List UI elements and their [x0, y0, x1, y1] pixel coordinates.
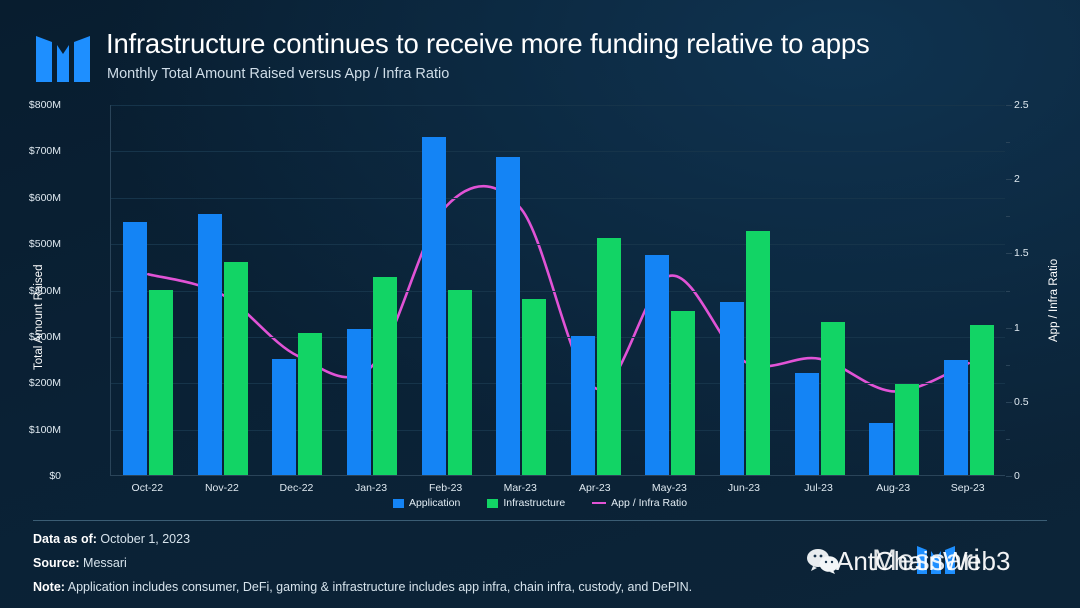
gridline [111, 244, 1005, 245]
bar-infrastructure[interactable] [373, 277, 397, 475]
x-axis-tick-label: Apr-23 [579, 482, 611, 494]
y2-axis-tick-label: 0.5 [1014, 396, 1054, 408]
legend-swatch-ratio [592, 502, 606, 505]
y2-axis-tick-label: 2 [1014, 173, 1054, 185]
legend-label-infrastructure: Infrastructure [503, 497, 565, 509]
wechat-icon [806, 548, 840, 574]
chart-header: Infrastructure continues to receive more… [0, 0, 1080, 96]
bar-infrastructure[interactable] [597, 238, 621, 475]
y2-axis-minor-tick [1006, 328, 1010, 329]
bar-infrastructure[interactable] [671, 311, 695, 475]
footer-note-value: Application includes consumer, DeFi, gam… [68, 580, 692, 594]
y2-axis-minor-tick [1006, 439, 1010, 440]
y-axis-tick-label: $700M [0, 145, 61, 157]
y2-axis-minor-tick [1006, 216, 1010, 217]
y2-axis-tick-label: 2.5 [1014, 99, 1054, 111]
bar-application[interactable] [422, 137, 446, 475]
y-axis-tick-label: $300M [0, 331, 61, 343]
legend-label-application: Application [409, 497, 460, 509]
watermark-overlay: Messari AntChainWeb3 [812, 538, 1074, 584]
x-axis-tick-label: Sep-23 [951, 482, 985, 494]
chart-container: Total Amount Raised App / Infra Ratio Ap… [0, 96, 1080, 516]
bar-application[interactable] [571, 336, 595, 475]
y2-axis-tick-label: 1.5 [1014, 247, 1054, 259]
bar-application[interactable] [272, 359, 296, 475]
gridline [111, 151, 1005, 152]
bar-application[interactable] [496, 157, 520, 475]
bar-application[interactable] [795, 373, 819, 475]
y-axis-tick-label: $500M [0, 238, 61, 250]
bar-application[interactable] [944, 360, 968, 475]
x-axis-tick-label: Jun-23 [728, 482, 760, 494]
footer-data-as-of-label: Data as of: [33, 532, 97, 546]
messari-m-logo-icon [30, 28, 96, 90]
legend-item-infrastructure[interactable]: Infrastructure [487, 497, 565, 509]
bar-application[interactable] [720, 302, 744, 475]
bar-infrastructure[interactable] [149, 290, 173, 476]
x-axis-tick-label: Oct-22 [132, 482, 164, 494]
x-axis-tick-label: Jan-23 [355, 482, 387, 494]
gridline [111, 105, 1005, 106]
bar-infrastructure[interactable] [970, 325, 994, 475]
y2-axis-minor-tick [1006, 291, 1010, 292]
footer-data-as-of: Data as of: October 1, 2023 [33, 532, 190, 546]
bar-infrastructure[interactable] [298, 333, 322, 475]
y2-axis-minor-tick [1006, 476, 1010, 477]
legend-item-ratio[interactable]: App / Infra Ratio [592, 497, 687, 509]
bar-application[interactable] [347, 329, 371, 475]
y2-axis-tick [1006, 105, 1012, 106]
y2-axis-tick-label: 1 [1014, 322, 1054, 334]
bar-application[interactable] [198, 214, 222, 475]
bar-application[interactable] [869, 423, 893, 475]
chart-legend: Application Infrastructure App / Infra R… [0, 497, 1080, 509]
footer-source-value: Messari [83, 556, 127, 570]
bar-infrastructure[interactable] [448, 290, 472, 476]
watermark-account-name: AntChainWeb3 [836, 546, 1010, 577]
y-axis-tick-label: $100M [0, 424, 61, 436]
y-axis-tick-label: $200M [0, 377, 61, 389]
y-axis-tick-label: $600M [0, 192, 61, 204]
y2-axis-minor-tick [1006, 365, 1010, 366]
footer-note-label: Note: [33, 580, 65, 594]
x-axis-tick-label: Jul-23 [804, 482, 833, 494]
footer-note: Note: Application includes consumer, DeF… [33, 580, 692, 594]
ratio-line-path [148, 186, 968, 391]
y-axis-tick-label: $0 [0, 470, 61, 482]
y-axis-title: Total Amount Raised [33, 265, 45, 370]
x-axis-tick-label: Dec-22 [280, 482, 314, 494]
y-axis-tick-label: $400M [0, 285, 61, 297]
footer-divider [33, 520, 1047, 521]
x-axis-tick-label: May-23 [652, 482, 687, 494]
page-title: Infrastructure continues to receive more… [106, 28, 870, 60]
y2-axis-minor-tick [1006, 402, 1010, 403]
bar-infrastructure[interactable] [895, 384, 919, 475]
plot-area [110, 105, 1005, 476]
x-axis-tick-label: Feb-23 [429, 482, 462, 494]
y2-axis-minor-tick [1006, 142, 1010, 143]
page-subtitle: Monthly Total Amount Raised versus App /… [107, 66, 449, 82]
x-axis-tick-label: Nov-22 [205, 482, 239, 494]
y-axis-tick-label: $800M [0, 99, 61, 111]
y2-axis-minor-tick [1006, 179, 1010, 180]
bar-infrastructure[interactable] [224, 262, 248, 475]
bar-infrastructure[interactable] [746, 231, 770, 475]
gridline [111, 198, 1005, 199]
bar-application[interactable] [123, 222, 147, 475]
bar-application[interactable] [645, 255, 669, 475]
footer-source-label: Source: [33, 556, 80, 570]
bar-infrastructure[interactable] [821, 322, 845, 475]
footer-source: Source: Messari [33, 556, 127, 570]
legend-swatch-infrastructure [487, 499, 498, 508]
legend-label-ratio: App / Infra Ratio [611, 497, 687, 509]
x-axis-tick-label: Mar-23 [504, 482, 537, 494]
legend-item-application[interactable]: Application [393, 497, 460, 509]
legend-swatch-application [393, 499, 404, 508]
bar-infrastructure[interactable] [522, 299, 546, 475]
y2-axis-tick-label: 0 [1014, 470, 1054, 482]
footer-data-as-of-value: October 1, 2023 [100, 532, 190, 546]
y2-axis-minor-tick [1006, 253, 1010, 254]
x-axis-tick-label: Aug-23 [876, 482, 910, 494]
